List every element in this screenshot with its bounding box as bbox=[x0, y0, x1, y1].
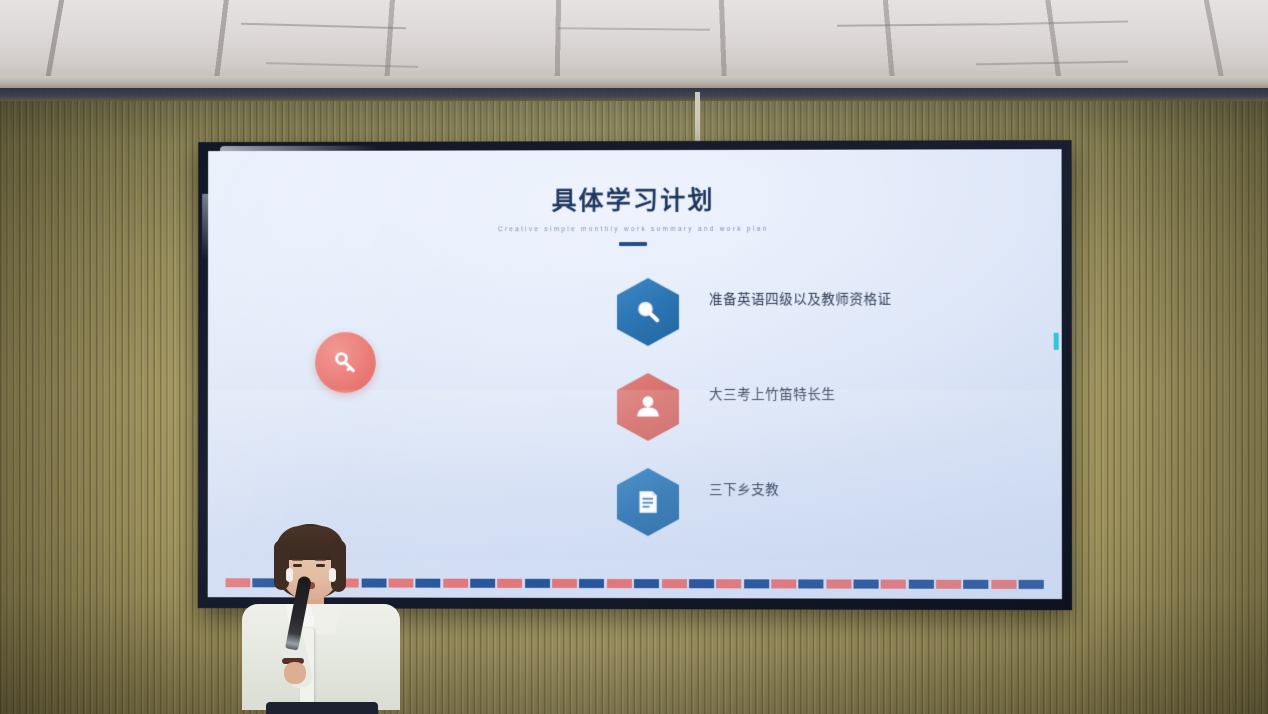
earphone-left bbox=[286, 568, 293, 582]
key-icon bbox=[332, 349, 359, 376]
list-item[interactable]: 准备英语四级以及教师资格证 bbox=[617, 278, 1039, 373]
skirt bbox=[266, 702, 378, 714]
dash-red bbox=[498, 579, 523, 588]
dash-red bbox=[443, 579, 468, 588]
dash-blue bbox=[853, 580, 878, 589]
hex-badge-red bbox=[617, 373, 679, 441]
dash-red bbox=[881, 580, 906, 589]
eye-left bbox=[293, 564, 302, 567]
title-underline-rule bbox=[619, 242, 647, 246]
presenter bbox=[236, 524, 406, 714]
dash-blue bbox=[525, 579, 550, 588]
earphone-right bbox=[329, 568, 336, 582]
dash-blue bbox=[744, 579, 769, 588]
dash-blue bbox=[1019, 580, 1044, 589]
edge-progress-marker[interactable] bbox=[1054, 333, 1059, 350]
ceiling-panel-lines bbox=[0, 0, 1268, 86]
hand bbox=[284, 662, 306, 684]
dash-blue bbox=[963, 580, 988, 589]
dash-blue bbox=[634, 579, 659, 588]
slide-subtitle: Creative simple monthly work summary and… bbox=[208, 225, 1062, 234]
dash-red bbox=[826, 579, 851, 588]
dash-red bbox=[716, 579, 741, 588]
search-icon bbox=[633, 297, 663, 327]
list-item-label: 大三考上竹笛特长生 bbox=[709, 373, 835, 403]
bullet-list: 准备英语四级以及教师资格证 大三考上竹笛特长生 bbox=[617, 278, 1039, 564]
room-scene: 具体学习计划 Creative simple monthly work summ… bbox=[0, 0, 1268, 714]
dash-blue bbox=[579, 579, 604, 588]
dash-blue bbox=[689, 579, 714, 588]
eye-right bbox=[316, 564, 325, 567]
eyebrow-left bbox=[292, 559, 303, 561]
wall-top-trim bbox=[0, 88, 1268, 101]
dash-red bbox=[991, 580, 1016, 589]
hex-badge-blue bbox=[617, 278, 679, 346]
floor-shadow bbox=[0, 594, 1268, 714]
ceiling bbox=[0, 0, 1268, 86]
dash-red bbox=[661, 579, 686, 588]
list-item[interactable]: 大三考上竹笛特长生 bbox=[617, 373, 1039, 468]
wall-cable-strip bbox=[695, 92, 700, 148]
document-icon bbox=[633, 487, 663, 517]
dash-blue bbox=[799, 579, 824, 588]
slide-header: 具体学习计划 Creative simple monthly work summ… bbox=[208, 180, 1062, 246]
hair-side-left bbox=[274, 540, 289, 590]
list-item-label: 准备英语四级以及教师资格证 bbox=[709, 278, 892, 308]
dash-red bbox=[607, 579, 632, 588]
dash-red bbox=[552, 579, 577, 588]
key-badge bbox=[315, 332, 376, 393]
page-title: 具体学习计划 bbox=[208, 180, 1062, 217]
hair-side-right bbox=[331, 540, 346, 592]
hex-icon-wrap bbox=[617, 373, 679, 441]
hex-icon-wrap bbox=[617, 278, 679, 346]
list-item-label: 三下乡支教 bbox=[709, 468, 779, 498]
eyebrow-right bbox=[315, 559, 326, 561]
dash-blue bbox=[908, 580, 933, 589]
list-item[interactable]: 三下乡支教 bbox=[617, 468, 1039, 564]
hex-badge-blue bbox=[617, 468, 679, 536]
person-icon bbox=[633, 392, 663, 422]
hex-icon-wrap bbox=[617, 468, 679, 536]
dash-blue bbox=[470, 579, 495, 588]
dash-blue bbox=[416, 579, 441, 588]
dash-red bbox=[936, 580, 961, 589]
dash-red bbox=[771, 579, 796, 588]
